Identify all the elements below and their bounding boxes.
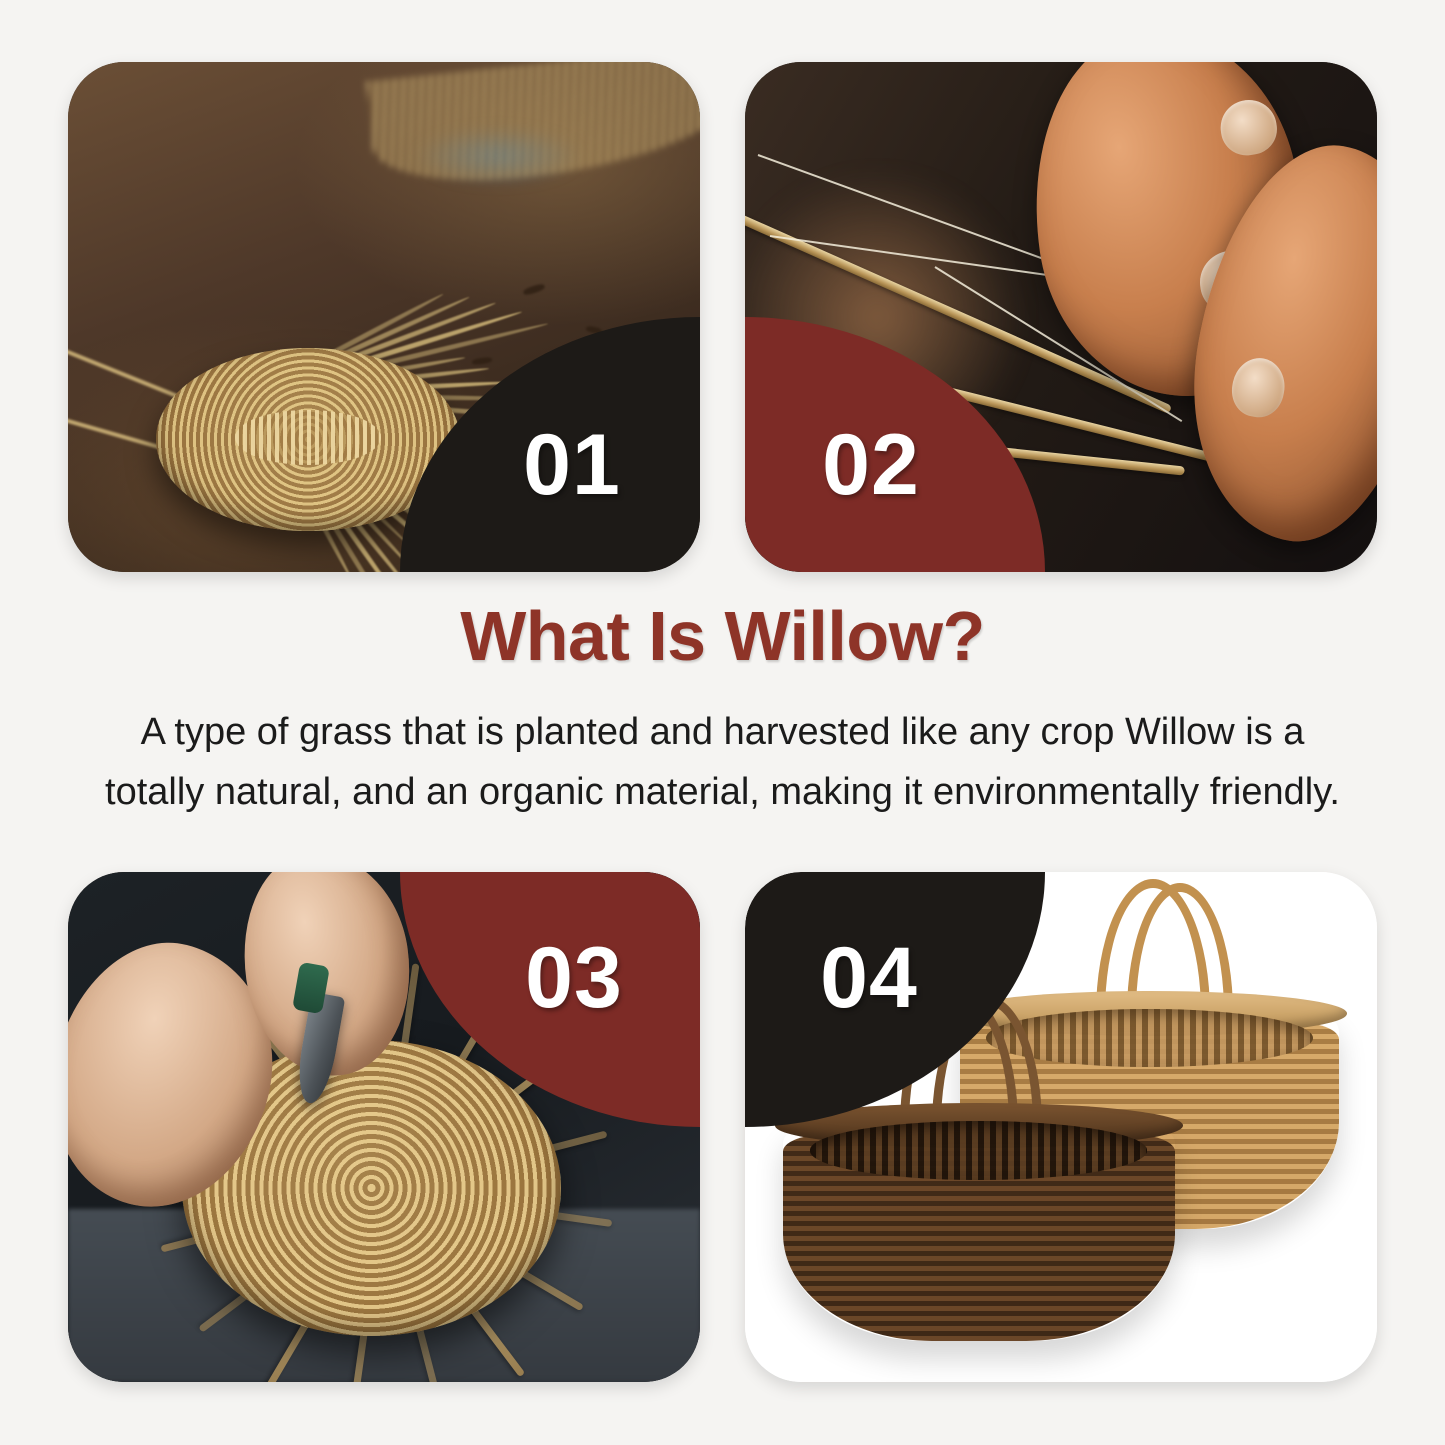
step-number-02: 02 [822, 422, 920, 508]
step-card-02[interactable]: 02 [745, 62, 1377, 572]
basket-dark-brown [783, 1117, 1175, 1341]
fingernail [1228, 353, 1290, 421]
infographic-page: 01 02 [0, 0, 1445, 1445]
page-subtitle: A type of grass that is planted and harv… [50, 702, 1395, 822]
step-number-01: 01 [523, 422, 621, 508]
step-number-04: 04 [820, 935, 918, 1021]
step-card-04[interactable]: 04 [745, 872, 1377, 1382]
wood-chip [522, 283, 545, 296]
fingernail [1217, 97, 1280, 159]
page-title: What Is Willow? [50, 600, 1395, 674]
wood-chip [472, 356, 493, 365]
step-card-01[interactable]: 01 [68, 62, 700, 572]
step-number-03: 03 [525, 935, 623, 1021]
step-card-03[interactable]: 03 [68, 872, 700, 1382]
basket-interior [810, 1121, 1147, 1179]
heading-block: What Is Willow? A type of grass that is … [50, 600, 1395, 822]
basket-interior [986, 1009, 1312, 1067]
